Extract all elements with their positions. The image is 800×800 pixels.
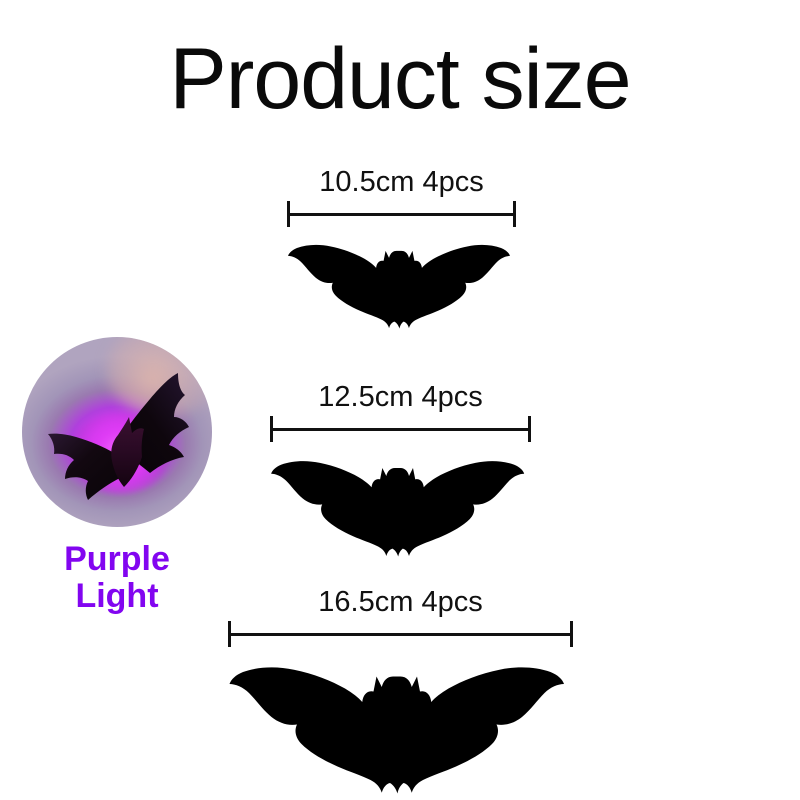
size-label-small: 10.5cm 4pcs (287, 168, 516, 197)
dimension-bar-medium (270, 428, 531, 431)
product-size-image: Product size 10.5cm 4pcs 12.5cm 4pcs (0, 0, 800, 800)
bat-glow-photo (22, 337, 212, 527)
dimension-tick-right-medium (528, 416, 531, 442)
dimension-bar-small (287, 213, 516, 216)
dimension-line-small (287, 201, 516, 227)
dimension-tick-right-large (570, 621, 573, 647)
dimension-line-medium (270, 416, 531, 442)
purple-light-swatch: Purple Light (22, 337, 212, 527)
dimension-tick-right-small (513, 201, 516, 227)
swatch-caption: Purple Light (22, 541, 212, 614)
bat-3d-shape (22, 337, 212, 527)
bat-silhouette-large (228, 654, 573, 797)
size-label-medium: 12.5cm 4pcs (270, 383, 531, 412)
size-label-large: 16.5cm 4pcs (228, 588, 573, 617)
dimension-line-large (228, 621, 573, 647)
bat-silhouette-medium (270, 451, 531, 559)
dimension-bar-large (228, 633, 573, 636)
bat-silhouette-small (287, 236, 516, 331)
page-title: Product size (0, 36, 800, 122)
